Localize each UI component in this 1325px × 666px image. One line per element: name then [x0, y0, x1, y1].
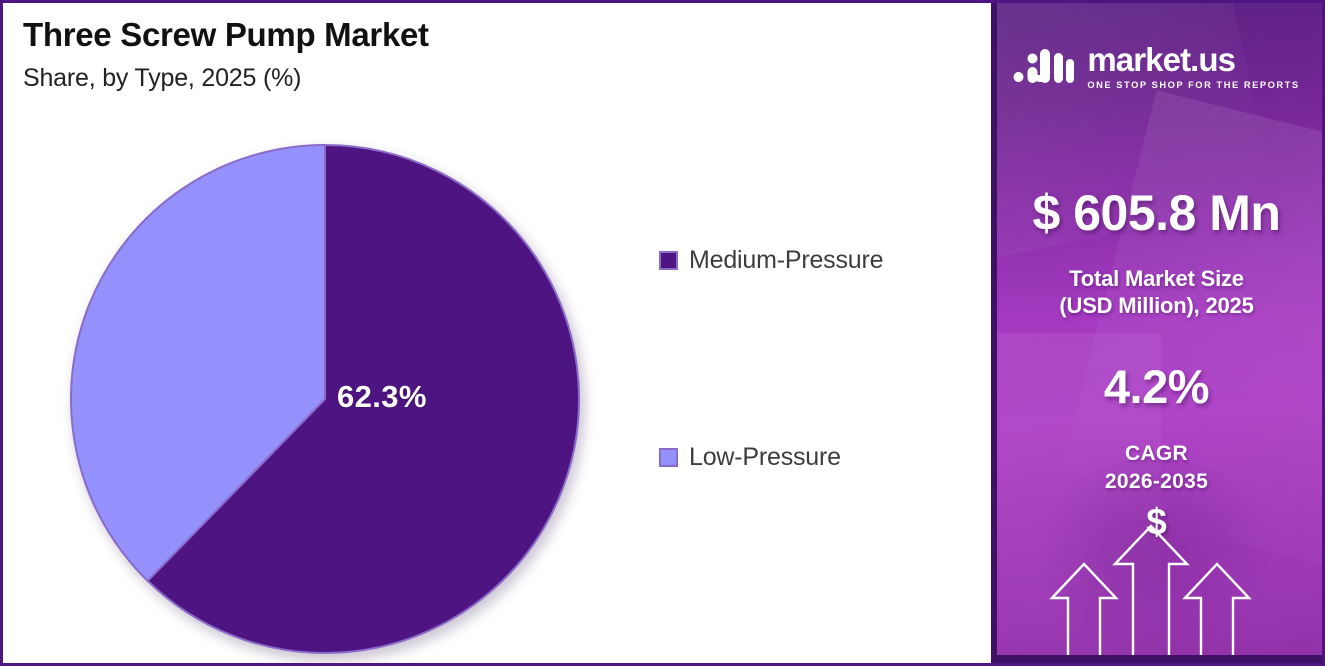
pie-slices	[69, 143, 581, 655]
title-block: Three Screw Pump Market Share, by Type, …	[23, 17, 923, 93]
cagr-caption: CAGR 2026-2035	[991, 440, 1322, 495]
page-subtitle: Share, by Type, 2025 (%)	[23, 64, 923, 93]
panel-divider	[991, 3, 997, 663]
market-size-value: $ 605.8 Mn	[991, 188, 1322, 238]
infographic-root: Three Screw Pump Market Share, by Type, …	[0, 0, 1325, 666]
market-size-caption-line1: Total Market Size	[991, 265, 1322, 292]
market-size-caption: Total Market Size (USD Million), 2025	[991, 265, 1322, 320]
logo-tagline: ONE STOP SHOP FOR THE REPORTS	[1087, 81, 1299, 90]
market-us-logo-mark-icon	[1013, 45, 1075, 89]
legend-swatch-medium-pressure	[659, 251, 678, 270]
legend-label-medium-pressure: Medium-Pressure	[689, 248, 883, 273]
growth-arrows-icon	[1005, 498, 1310, 663]
logo-text-block: market.us ONE STOP SHOP FOR THE REPORTS	[1087, 43, 1299, 90]
chart-panel: Three Screw Pump Market Share, by Type, …	[3, 3, 991, 663]
legend-swatch-low-pressure	[659, 448, 678, 467]
legend-item-medium-pressure[interactable]: Medium-Pressure	[659, 248, 883, 273]
logo-wordmark: market.us	[1087, 43, 1235, 76]
pie-slice-value-label: 62.3%	[337, 379, 427, 415]
market-size-caption-line2: (USD Million), 2025	[991, 292, 1322, 319]
cagr-caption-line2: 2026-2035	[991, 468, 1322, 496]
legend-item-low-pressure[interactable]: Low-Pressure	[659, 445, 841, 470]
pie-chart: 62.3%	[69, 143, 581, 655]
brand-logo: market.us ONE STOP SHOP FOR THE REPORTS	[991, 43, 1322, 90]
legend-label-low-pressure: Low-Pressure	[689, 445, 841, 470]
stats-panel: market.us ONE STOP SHOP FOR THE REPORTS …	[991, 3, 1322, 663]
cagr-value: 4.2%	[991, 363, 1322, 410]
page-title: Three Screw Pump Market	[23, 17, 923, 53]
panel-bottom-bar	[991, 655, 1322, 663]
cagr-caption-line1: CAGR	[991, 440, 1322, 468]
